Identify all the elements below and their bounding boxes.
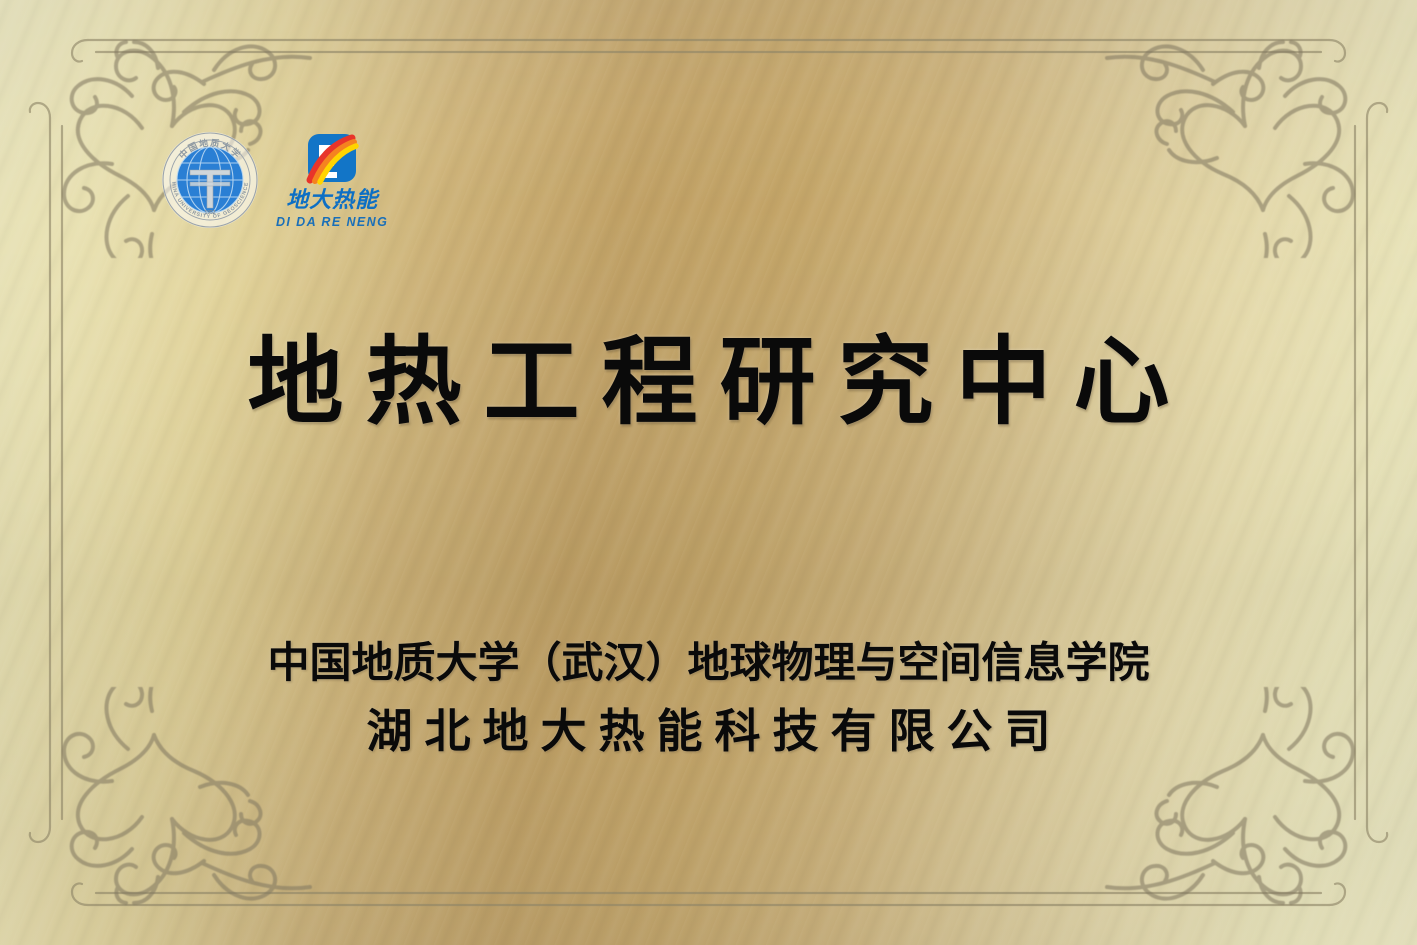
didareneng-mark-icon xyxy=(296,132,368,192)
organization-line-2: 湖北地大热能科技有限公司 xyxy=(0,706,1417,757)
seal-year-text: 1952 xyxy=(204,210,215,216)
corner-ornament-top-right xyxy=(1103,8,1403,258)
page-title: 地热工程研究中心 xyxy=(0,332,1417,434)
didareneng-cn-text: 地大热能 xyxy=(286,190,378,212)
china-university-of-geosciences-seal-icon: 中国地质大学 CHINA UNIVERSITY OF GEOSCIENCES 1… xyxy=(160,130,260,230)
logo-group: 中国地质大学 CHINA UNIVERSITY OF GEOSCIENCES 1… xyxy=(160,130,388,230)
didareneng-en-text: DI DA RE NENG xyxy=(276,215,388,229)
organization-line-1: 中国地质大学（武汉）地球物理与空间信息学院 xyxy=(0,640,1417,686)
didareneng-logo: 地大热能 DI DA RE NENG xyxy=(276,132,388,229)
plaque-board: 中国地质大学 CHINA UNIVERSITY OF GEOSCIENCES 1… xyxy=(0,0,1417,945)
